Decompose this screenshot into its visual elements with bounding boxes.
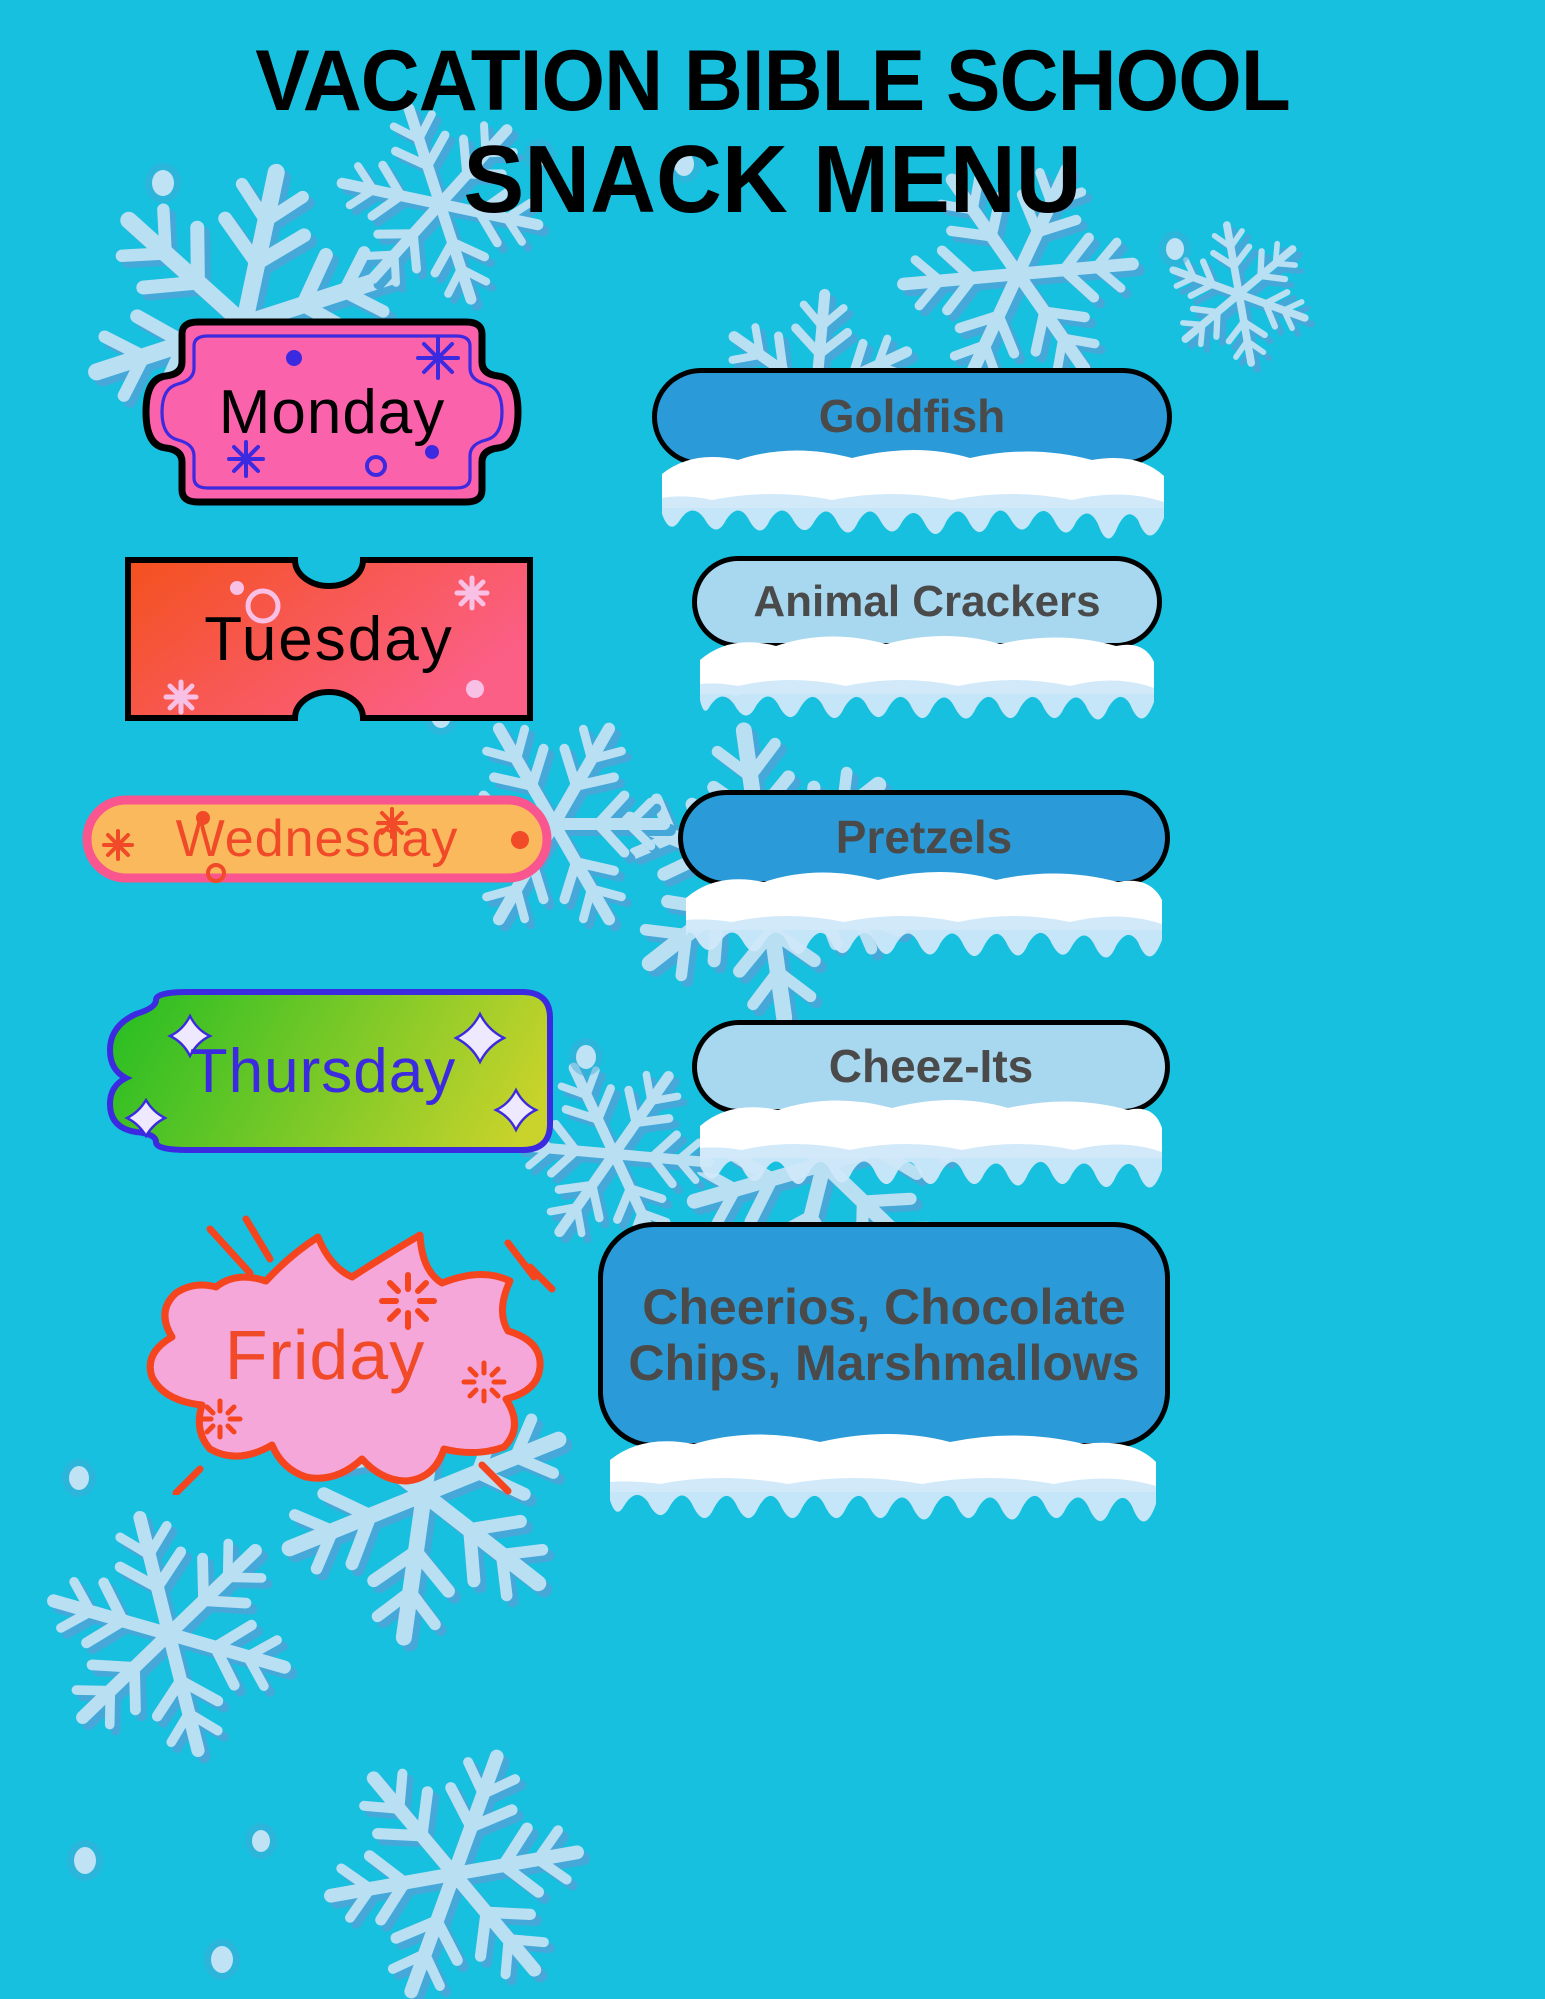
asterisk-icon — [104, 831, 132, 859]
sparkle-icon — [496, 1090, 536, 1130]
sparkle-icon — [456, 1014, 504, 1062]
sparkle-icon — [127, 1100, 165, 1136]
snack-box-thursday[interactable]: Cheez-Its — [692, 1020, 1170, 1114]
day-badge-wednesday[interactable]: Wednesday — [82, 795, 552, 883]
day-label-wednesday: Wednesday — [176, 809, 459, 869]
snack-label-wednesday: Pretzels — [822, 812, 1026, 864]
snack-box-body: Pretzels — [678, 790, 1170, 886]
snack-label-monday: Goldfish — [805, 391, 1020, 443]
snack-box-friday[interactable]: Cheerios, Chocolate Chips, Marshmallows — [598, 1222, 1170, 1448]
dot-icon — [230, 581, 244, 595]
day-badge-monday[interactable]: Monday — [142, 318, 522, 506]
day-label-thursday: Thursday — [190, 1036, 456, 1107]
snack-box-wednesday[interactable]: Pretzels — [678, 790, 1170, 886]
asterisk-icon — [457, 578, 487, 608]
sparkle-burst-icon — [464, 1363, 504, 1401]
snack-box-body: Goldfish — [652, 368, 1172, 466]
poster-canvas: VACATION BIBLE SCHOOL SNACK MENU — [0, 0, 1545, 1999]
dot-icon — [466, 680, 484, 698]
day-badge-friday[interactable]: Friday — [90, 1215, 560, 1495]
day-label-tuesday: Tuesday — [204, 604, 454, 675]
title-line-1: VACATION BIBLE SCHOOL — [39, 38, 1507, 124]
dot-icon — [511, 831, 529, 849]
day-label-friday: Friday — [225, 1315, 425, 1395]
snack-box-monday[interactable]: Goldfish — [652, 368, 1172, 466]
snack-label-thursday: Cheez-Its — [815, 1041, 1047, 1093]
snack-label-tuesday: Animal Crackers — [739, 577, 1114, 626]
day-badge-tuesday[interactable]: Tuesday — [124, 556, 534, 722]
snack-box-body: Cheez-Its — [692, 1020, 1170, 1114]
day-badge-thursday[interactable]: Thursday — [92, 988, 554, 1154]
day-label-monday: Monday — [219, 377, 446, 448]
title-line-2: SNACK MENU — [39, 130, 1507, 231]
dot-icon — [286, 350, 302, 366]
asterisk-icon — [418, 338, 458, 378]
snack-label-friday: Cheerios, Chocolate Chips, Marshmallows — [603, 1279, 1165, 1391]
sparkle-burst-icon — [201, 1401, 240, 1437]
snack-box-body: Animal Crackers — [692, 556, 1162, 648]
circle-outline-icon — [367, 457, 385, 475]
poster-title: VACATION BIBLE SCHOOL SNACK MENU — [0, 38, 1545, 231]
snack-box-tuesday[interactable]: Animal Crackers — [692, 556, 1162, 648]
menu-rows: Monday — [0, 0, 1545, 1999]
snack-box-body: Cheerios, Chocolate Chips, Marshmallows — [598, 1222, 1170, 1448]
asterisk-icon — [166, 682, 196, 712]
